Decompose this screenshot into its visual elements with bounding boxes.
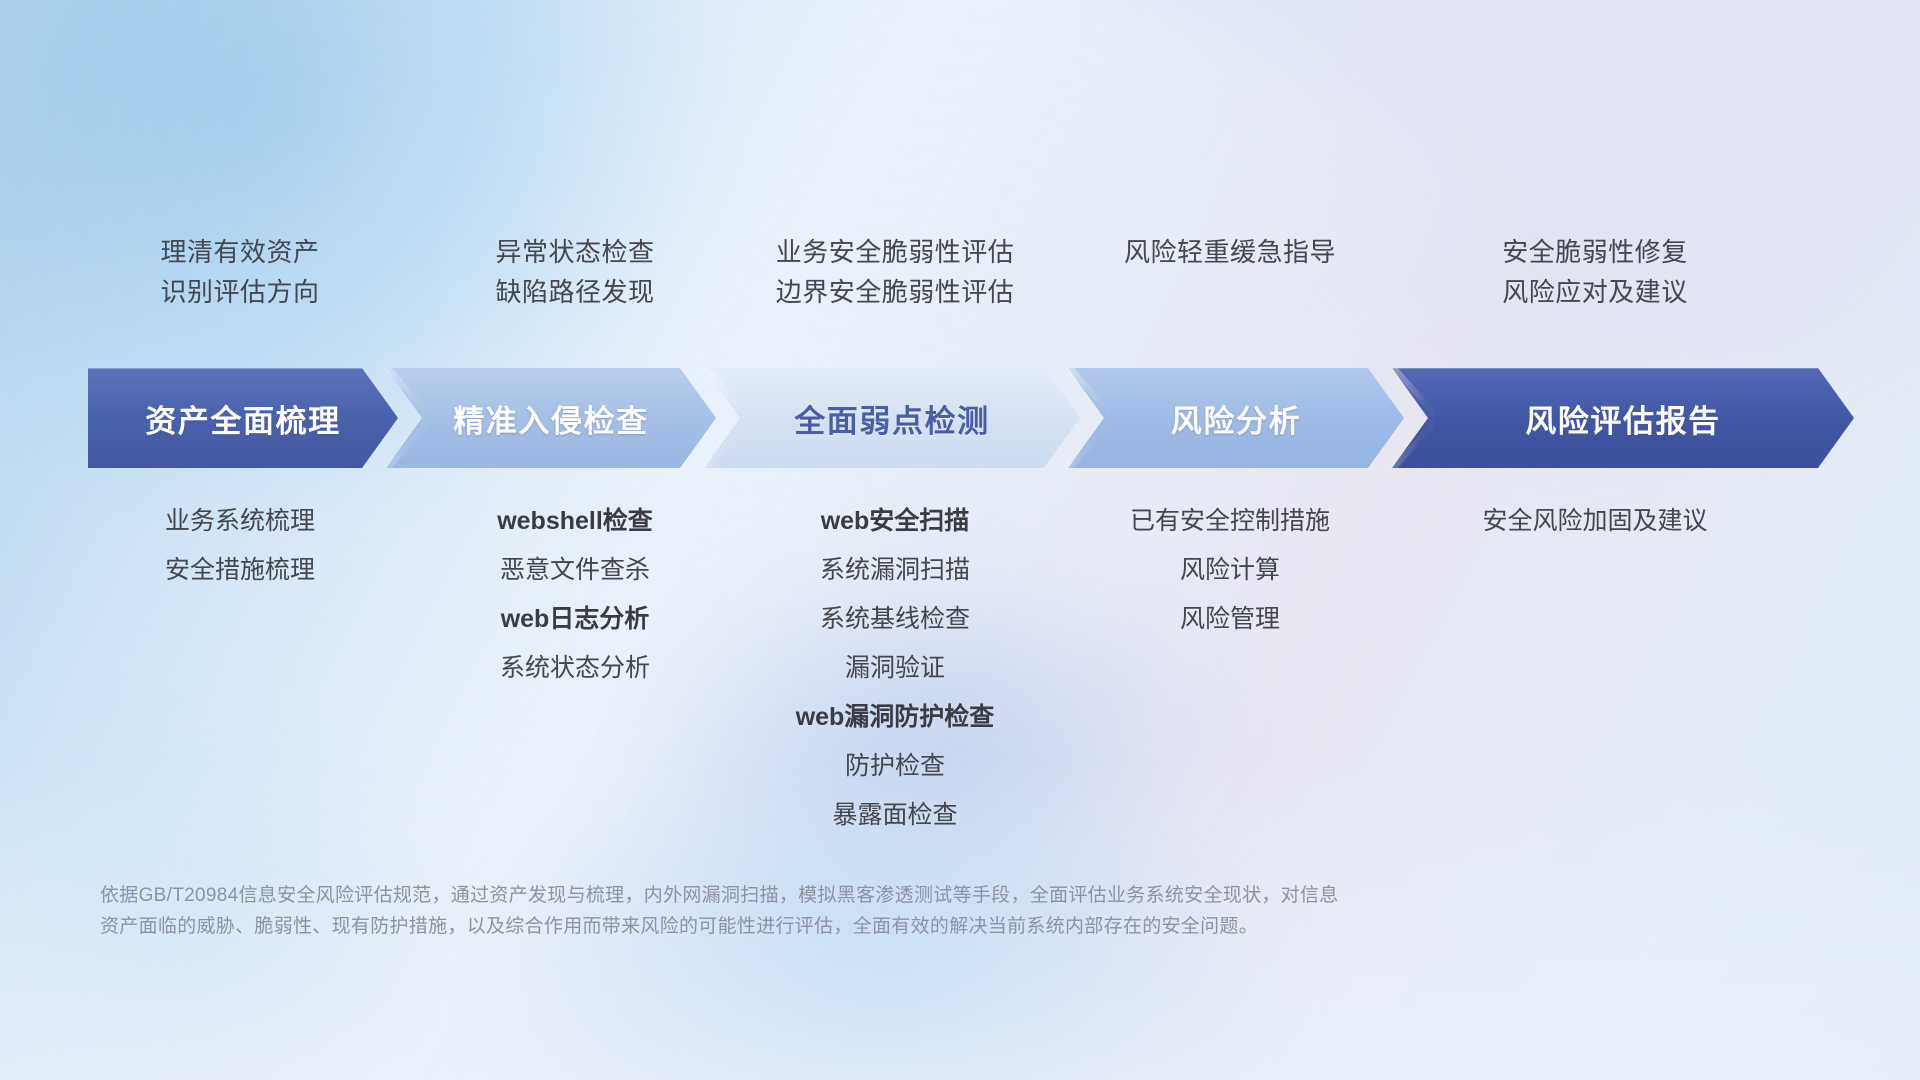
top-labels-row: 理清有效资产 识别评估方向 异常状态检查 缺陷路径发现 业务安全脆弱性评估 边界… [0, 232, 1920, 342]
top-label: 缺陷路径发现 [495, 272, 654, 312]
stage-chevron-label: 全面弱点检测 [794, 396, 990, 441]
top-labels-column-5: 安全脆弱性修复 风险应对及建议 [1395, 232, 1795, 342]
process-diagram: 理清有效资产 识别评估方向 异常状态检查 缺陷路径发现 业务安全脆弱性评估 边界… [0, 0, 1920, 1080]
stage-chevron-label: 精准入侵检查 [453, 396, 649, 441]
bottom-list-column-2: webshell检查 恶意文件查杀 web日志分析 系统状态分析 [425, 497, 725, 840]
list-item: web漏洞防护检查 [796, 693, 995, 742]
stage-chevron-3[interactable]: 全面弱点检测 [704, 368, 1080, 468]
footer-description: 依据GB/T20984信息安全风险评估规范，通过资产发现与梳理，内外网漏洞扫描，… [100, 880, 1630, 942]
top-labels-column-3: 业务安全脆弱性评估 边界安全脆弱性评估 [725, 232, 1065, 342]
list-item: 安全措施梳理 [165, 546, 315, 595]
footer-line-1: 依据GB/T20984信息安全风险评估规范，通过资产发现与梳理，内外网漏洞扫描，… [100, 880, 1630, 911]
list-item: 防护检查 [845, 742, 945, 791]
bottom-list-column-5: 安全风险加固及建议 [1395, 497, 1795, 840]
bottom-list-column-4: 已有安全控制措施 风险计算 风险管理 [1065, 497, 1395, 840]
list-item: 漏洞验证 [845, 644, 945, 693]
list-item: 系统漏洞扫描 [820, 546, 970, 595]
bottom-lists-row: 业务系统梳理 安全措施梳理 webshell检查 恶意文件查杀 web日志分析 … [0, 497, 1920, 840]
stage-chevron-5[interactable]: 风险评估报告 [1392, 368, 1854, 468]
footer-line-2: 资产面临的威胁、脆弱性、现有防护措施，以及综合作用而带来风险的可能性进行评估，全… [100, 911, 1630, 942]
list-item: 风险管理 [1180, 595, 1280, 644]
list-item: 已有安全控制措施 [1130, 497, 1330, 546]
list-item: 系统状态分析 [500, 644, 650, 693]
stage-chevron-2[interactable]: 精准入侵检查 [386, 368, 716, 468]
top-label: 风险轻重缓急指导 [1124, 232, 1336, 272]
list-item: 恶意文件查杀 [500, 546, 650, 595]
top-labels-column-2: 异常状态检查 缺陷路径发现 [425, 232, 725, 342]
top-label: 识别评估方向 [160, 272, 319, 312]
stage-chevron-label: 风险分析 [1171, 396, 1301, 441]
stage-chevron-1[interactable]: 资产全面梳理 [88, 368, 398, 468]
stage-chevron-label: 风险评估报告 [1525, 396, 1721, 441]
bottom-list-column-1: 业务系统梳理 安全措施梳理 [55, 497, 425, 840]
list-item: web日志分析 [501, 595, 650, 644]
top-label: 风险应对及建议 [1502, 272, 1688, 312]
list-item: web安全扫描 [821, 497, 970, 546]
top-label: 安全脆弱性修复 [1502, 232, 1688, 272]
stage-chevron-label: 资产全面梳理 [145, 396, 341, 441]
bottom-list-column-3: web安全扫描 系统漏洞扫描 系统基线检查 漏洞验证 web漏洞防护检查 防护检… [725, 497, 1065, 840]
list-item: 系统基线检查 [820, 595, 970, 644]
list-item: 暴露面检查 [832, 791, 957, 840]
list-item: 安全风险加固及建议 [1482, 497, 1707, 546]
list-item: 业务系统梳理 [165, 497, 315, 546]
top-labels-column-4: 风险轻重缓急指导 [1065, 232, 1395, 342]
list-item: webshell检查 [497, 497, 653, 546]
top-label: 异常状态检查 [495, 232, 654, 272]
top-label: 业务安全脆弱性评估 [776, 232, 1015, 272]
top-labels-column-1: 理清有效资产 识别评估方向 [55, 232, 425, 342]
top-label: 边界安全脆弱性评估 [776, 272, 1015, 312]
top-label: 理清有效资产 [160, 232, 319, 272]
stage-chevron-band: 资产全面梳理 精准入侵检查 全面弱点检测 风险分析 风险评估报告 [88, 368, 1854, 468]
list-item: 风险计算 [1180, 546, 1280, 595]
stage-chevron-4[interactable]: 风险分析 [1068, 368, 1404, 468]
